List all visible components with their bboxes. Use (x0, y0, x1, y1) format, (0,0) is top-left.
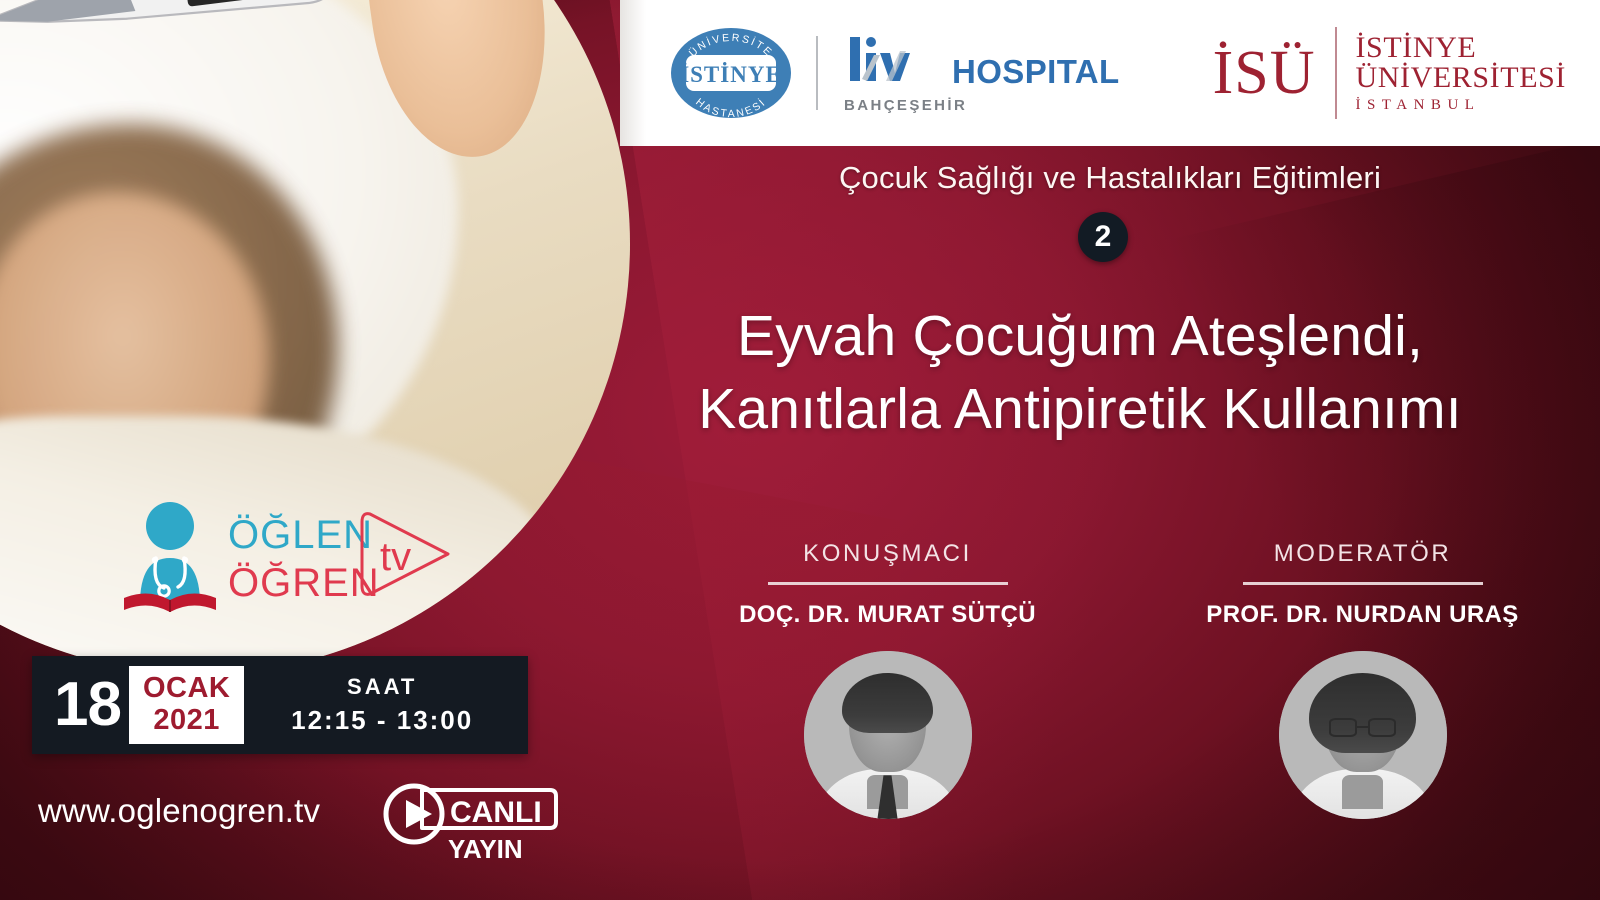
people-section: KONUŞMACI DOÇ. DR. MURAT SÜTÇÜ MODERATÖR… (650, 540, 1600, 880)
istinye-universitesi-logo: İSÜ İSTİNYE ÜNİVERSİTESİ İSTANBUL (1213, 27, 1566, 119)
logo-divider-2 (1335, 27, 1337, 119)
page-title: Eyvah Çocuğum Ateşlendi, Kanıtlarla Anti… (560, 300, 1600, 446)
isu-line-3: İSTANBUL (1355, 98, 1566, 113)
istinye-hastanesi-seal-icon: İSTİNYE ÜNİVERSİTE HASTANESİ (668, 25, 794, 121)
liv-mark-icon (840, 33, 948, 91)
isu-wordmark: İSTİNYE ÜNİVERSİTESİ İSTANBUL (1355, 33, 1566, 113)
logo-word-oglen: ÖĞLEN (228, 512, 373, 557)
liv-hospital-branch: BAHÇEŞEHİR (840, 97, 1120, 114)
speaker-rule (768, 582, 1008, 585)
speaker-role-label: KONUŞMACI (650, 540, 1125, 568)
moderator-block: MODERATÖR PROF. DR. NURDAN URAŞ (1125, 540, 1600, 880)
speaker-name: DOÇ. DR. MURAT SÜTÇÜ (650, 601, 1125, 629)
logo-divider-1 (816, 36, 818, 110)
event-poster: İSTİNYE ÜNİVERSİTE HASTANESİ (0, 0, 1600, 900)
event-month: OCAK (143, 674, 230, 703)
oglen-ogren-tv-logo[interactable]: ÖĞLEN ÖĞREN tv (118, 492, 458, 620)
liv-hospital-word: HOSPITAL (952, 55, 1120, 91)
doctor-head-icon (146, 502, 194, 550)
isu-line-2: ÜNİVERSİTESİ (1355, 63, 1566, 94)
isu-monogram: İSÜ (1213, 44, 1336, 103)
time-value: 12:15 - 13:00 (244, 705, 520, 736)
speaker-block: KONUŞMACI DOÇ. DR. MURAT SÜTÇÜ (650, 540, 1125, 880)
speaker-avatar (804, 651, 972, 819)
event-month-year: OCAK 2021 (129, 666, 244, 744)
live-broadcast-badge[interactable]: CANLI YAYIN (378, 780, 558, 864)
moderator-rule (1243, 582, 1483, 585)
logo-row: İSTİNYE ÜNİVERSİTE HASTANESİ (620, 25, 1600, 121)
event-year: 2021 (143, 706, 230, 735)
time-label: SAAT (244, 674, 520, 700)
seal-center-text: İSTİNYE (680, 62, 782, 87)
episode-number-badge: 2 (1078, 212, 1128, 262)
moderator-role-label: MODERATÖR (1125, 540, 1600, 568)
date-time-bar: 18 OCAK 2021 SAAT 12:15 - 13:00 (32, 656, 528, 754)
moderator-name: PROF. DR. NURDAN URAŞ (1125, 601, 1600, 629)
event-time-block: SAAT 12:15 - 13:00 (244, 674, 528, 736)
play-triangle-icon (406, 800, 432, 828)
liv-hospital-logo: HOSPITAL BAHÇEŞEHİR (840, 33, 1120, 114)
title-line-1: Eyvah Çocuğum Ateşlendi, (737, 304, 1423, 368)
glasses-icon (1329, 718, 1396, 736)
avatar-neck (1342, 775, 1382, 809)
series-title: Çocuk Sağlığı ve Hastalıkları Eğitimleri (620, 160, 1600, 196)
liv-lockup: HOSPITAL (840, 33, 1120, 91)
title-line-2: Kanıtlarla Antipiretik Kullanımı (570, 373, 1590, 446)
logo-word-tv: tv (380, 535, 411, 579)
isu-line-1: İSTİNYE (1355, 33, 1566, 64)
website-url[interactable]: www.oglenogren.tv (38, 792, 320, 830)
live-line-2: YAYIN (448, 834, 523, 864)
header-logo-bar: İSTİNYE ÜNİVERSİTE HASTANESİ (620, 0, 1600, 146)
event-day: 18 (32, 674, 127, 736)
moderator-avatar (1279, 651, 1447, 819)
live-line-1: CANLI (450, 796, 542, 829)
logo-word-ogren: ÖĞREN (228, 560, 380, 605)
